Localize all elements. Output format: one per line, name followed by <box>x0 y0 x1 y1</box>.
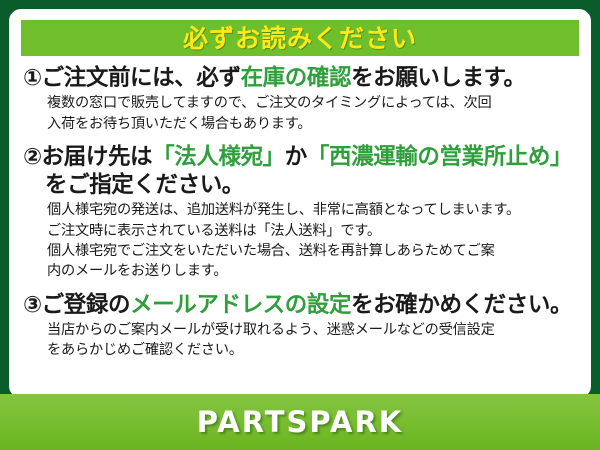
notice-item-2-heading-part-1: お届け先は <box>42 144 153 170</box>
notice-item-1-heading-highlight: 在庫の確認 <box>241 65 352 91</box>
notice-item-2-body: 個人様宅宛の発送は、追加送料が発生し、非常に高額となってしまいます。 ご注文時に… <box>23 200 577 281</box>
notice-item-1-marker: ① <box>23 65 42 91</box>
notice-item-3-heading-highlight: メールアドレスの設定 <box>130 292 351 318</box>
notice-card: 必ずお読みください ①ご注文前には、必ず在庫の確認をお願いします。 複数の窓口で… <box>0 0 600 450</box>
notice-item-2-heading: ②お届け先は「法人様宛」か「西濃運輸の営業所止め」 <box>23 143 577 171</box>
notice-item-2-heading-highlight-2: 「西濃運輸の営業所止め」 <box>307 144 572 170</box>
notice-item-3-heading: ③ご登録のメールアドレスの設定をお確かめください。 <box>23 291 577 319</box>
notice-item-3-heading-part-1: ご登録の <box>42 292 130 318</box>
notice-item-3-heading-part-3: をお確かめください。 <box>351 292 572 318</box>
notice-item-2-heading-line-2: をご指定ください。 <box>23 171 577 199</box>
content-panel: 必ずお読みください ①ご注文前には、必ず在庫の確認をお願いします。 複数の窓口で… <box>9 9 591 398</box>
notice-item-1-body-line-1: 複数の窓口で販売してますので、ご注文のタイミングによっては、次回 <box>47 93 577 113</box>
notice-item-1-heading: ①ご注文前には、必ず在庫の確認をお願いします。 <box>23 64 577 92</box>
notice-item-3-body: 当店からのご案内メールが受け取れるよう、迷惑メールなどの受信設定 をあらかじめご… <box>23 320 577 360</box>
notice-item-1-heading-part-1: ご注文前には、必ず <box>42 65 241 91</box>
notice-item-2-heading-part-3: か <box>285 144 307 170</box>
notice-item-3-body-line-2: をあらかじめご確認ください。 <box>47 340 577 360</box>
notice-item-2-heading-highlight-1: 「法人様宛」 <box>152 144 285 170</box>
header-title: 必ずお読みください <box>183 26 417 51</box>
notice-item-1-body: 複数の窓口で販売してますので、ご注文のタイミングによっては、次回 入荷をお待ち頂… <box>23 93 577 133</box>
footer-band: PARTSPARK <box>0 394 600 450</box>
brand-logo-text: PARTSPARK <box>197 408 404 437</box>
notice-item-1-body-line-2: 入荷をお待ち頂いただく場合もあります。 <box>47 114 577 134</box>
notice-item-2-body-line-3: 個人様宅宛でご注文をいただいた場合、送料を再計算しあらためてご案 <box>47 241 577 261</box>
notice-item-3-body-line-1: 当店からのご案内メールが受け取れるよう、迷惑メールなどの受信設定 <box>47 320 577 340</box>
notice-item-2-body-line-4: 内のメールをお送りします。 <box>47 261 577 281</box>
notice-item-1: ①ご注文前には、必ず在庫の確認をお願いします。 複数の窓口で販売してますので、ご… <box>23 64 577 134</box>
notice-item-2-body-line-2: ご注文時に表示されている送料は「法人送料」です。 <box>47 221 577 241</box>
notice-item-3: ③ご登録のメールアドレスの設定をお確かめください。 当店からのご案内メールが受け… <box>23 291 577 361</box>
header-banner: 必ずお読みください <box>21 20 579 56</box>
notice-item-2-marker: ② <box>23 144 42 170</box>
notice-item-1-heading-part-3: をお願いします。 <box>351 65 526 91</box>
notice-item-2: ②お届け先は「法人様宛」か「西濃運輸の営業所止め」 をご指定ください。 個人様宅… <box>23 143 577 281</box>
notice-item-2-body-line-1: 個人様宅宛の発送は、追加送料が発生し、非常に高額となってしまいます。 <box>47 200 577 220</box>
notice-list: ①ご注文前には、必ず在庫の確認をお願いします。 複数の窓口で販売してますので、ご… <box>9 56 591 361</box>
notice-item-3-marker: ③ <box>23 292 42 318</box>
